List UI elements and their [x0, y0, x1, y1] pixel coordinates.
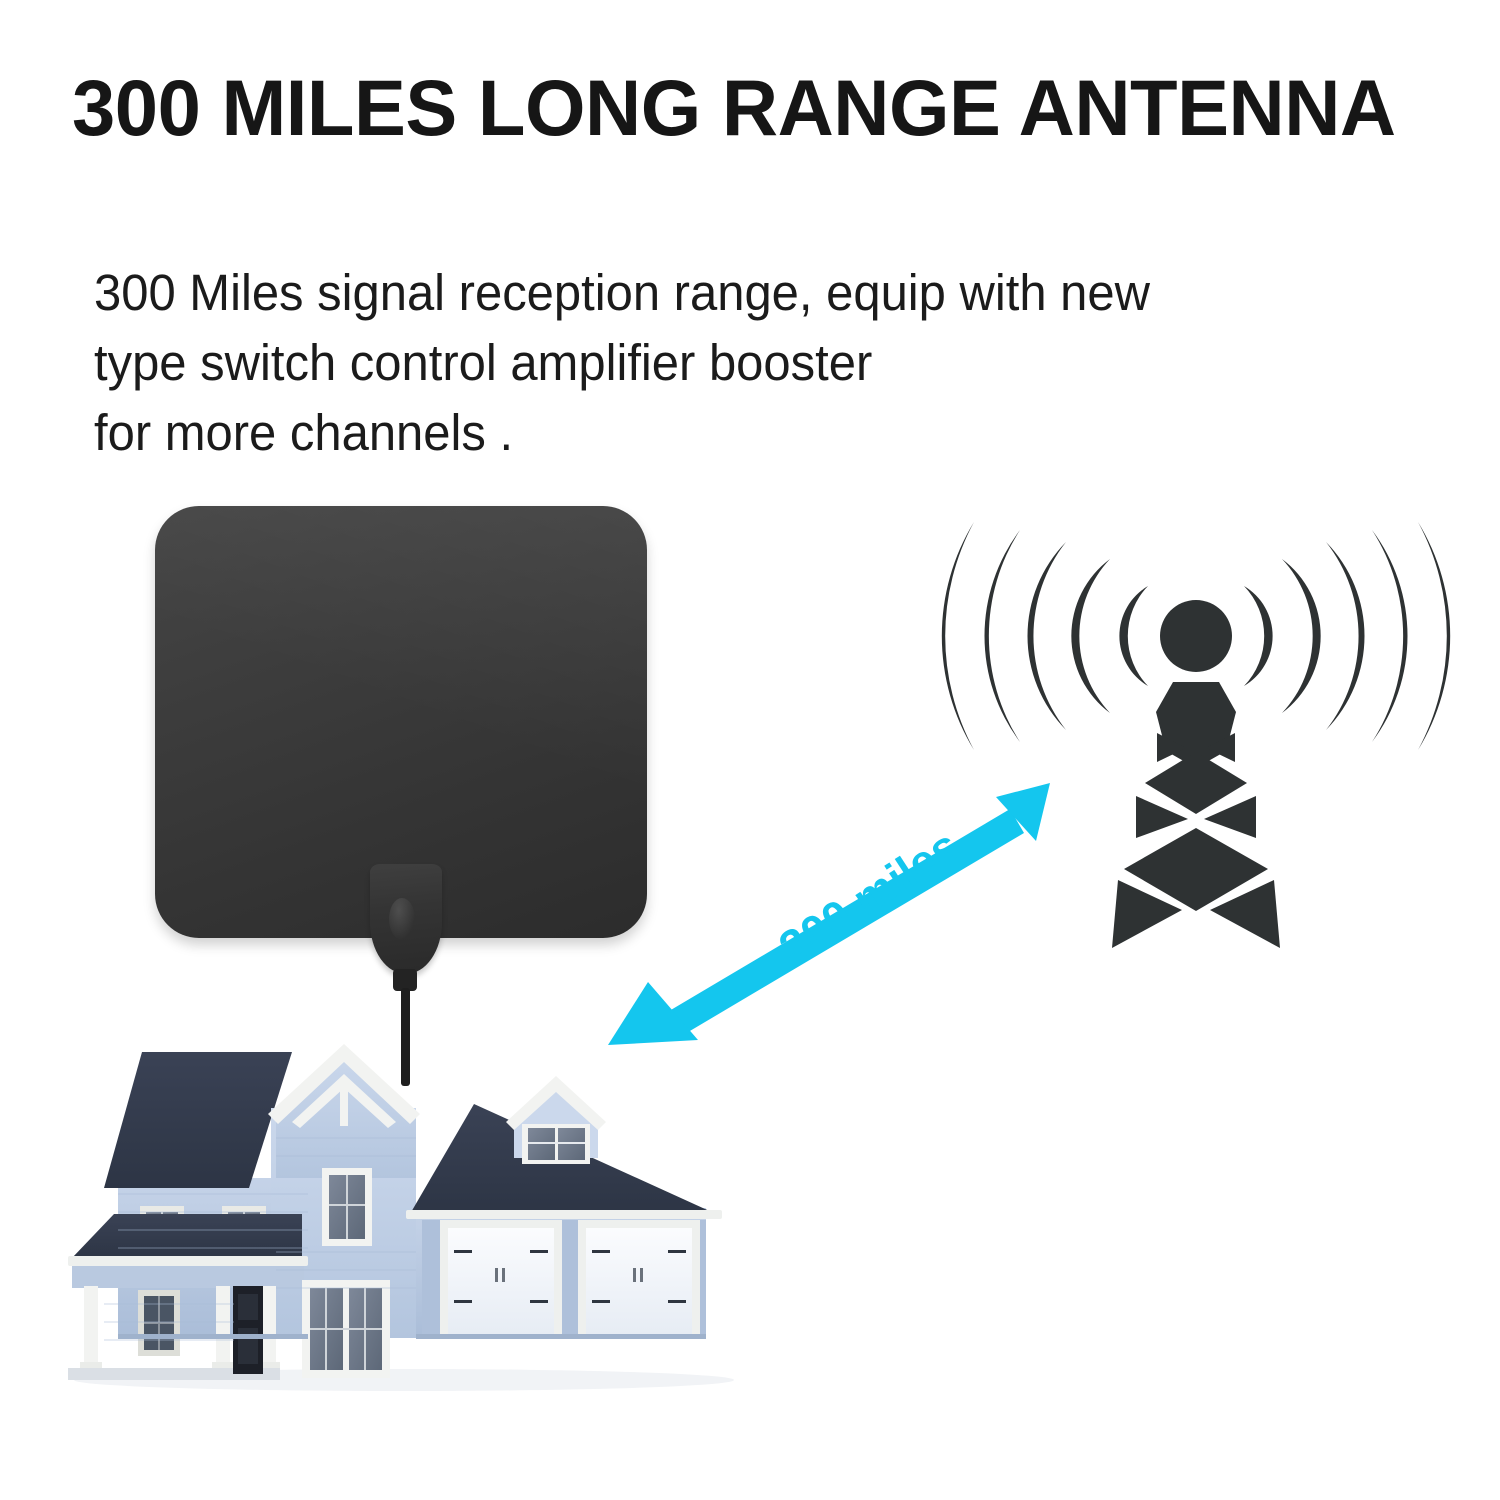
description-line-2: type switch control amplifier booster [94, 328, 1371, 398]
antenna-cable-boot-icon [370, 864, 442, 974]
porch-column-3 [262, 1286, 276, 1368]
garage-hinge-left-2 [530, 1250, 548, 1253]
distance-label: 300 miles [770, 820, 968, 974]
left-wall-base [118, 1334, 308, 1339]
description-line-3: for more channels . [94, 398, 1371, 468]
signal-waves-right-icon [1244, 522, 1450, 750]
bay-window-muntin-h [310, 1328, 382, 1330]
description-block: 300 Miles signal reception range, equip … [94, 258, 1371, 468]
garage-door-left[interactable] [448, 1228, 554, 1336]
porch-fascia [68, 1256, 308, 1266]
garage-handle-left-a [495, 1268, 498, 1282]
page-title: 300 MILES LONG RANGE ANTENNA [72, 68, 1431, 147]
house-left-roof [104, 1052, 292, 1188]
garage-hinge-right-1 [592, 1250, 610, 1253]
center-window-muntin-v [346, 1175, 348, 1239]
garage-hinge-left-4 [530, 1300, 548, 1303]
gable-king-post [340, 1078, 348, 1126]
porch-column-2 [216, 1286, 230, 1368]
bay-window-muntin-v-1 [325, 1288, 327, 1370]
porch-column-1 [84, 1286, 98, 1368]
garage-fascia [406, 1210, 722, 1219]
house-illustration [44, 1028, 770, 1400]
garage-pilaster-mid [560, 1220, 578, 1338]
garage-hinge-right-4 [668, 1300, 686, 1303]
garage-wall-base [416, 1334, 706, 1339]
garage-door-right[interactable] [586, 1228, 692, 1336]
garage-handle-left-b [502, 1268, 505, 1282]
bay-window-muntin-v-2 [364, 1288, 366, 1370]
antenna-product-image [155, 506, 647, 938]
front-door-panel-top [238, 1294, 258, 1320]
garage-handle-right-a [633, 1268, 636, 1282]
center-window-muntin-h [329, 1204, 365, 1206]
garage-hinge-left-3 [454, 1300, 472, 1303]
broadcast-tower-icon [1112, 600, 1280, 948]
porch-beam [72, 1266, 304, 1288]
porch-roof [72, 1214, 302, 1258]
garage-hinge-left-1 [454, 1250, 472, 1253]
signal-waves-left-icon [942, 522, 1148, 750]
dormer-muntin-h [528, 1142, 585, 1144]
front-door-panel-bottom [238, 1328, 258, 1364]
garage-pilaster-left [422, 1220, 440, 1338]
product-infographic: 300 MILES LONG RANGE ANTENNA 300 Miles s… [0, 0, 1500, 1500]
garage-handle-right-b [640, 1268, 643, 1282]
description-line-1: 300 Miles signal reception range, equip … [94, 258, 1371, 328]
garage-hinge-right-2 [668, 1250, 686, 1253]
garage-hinge-right-3 [592, 1300, 610, 1303]
